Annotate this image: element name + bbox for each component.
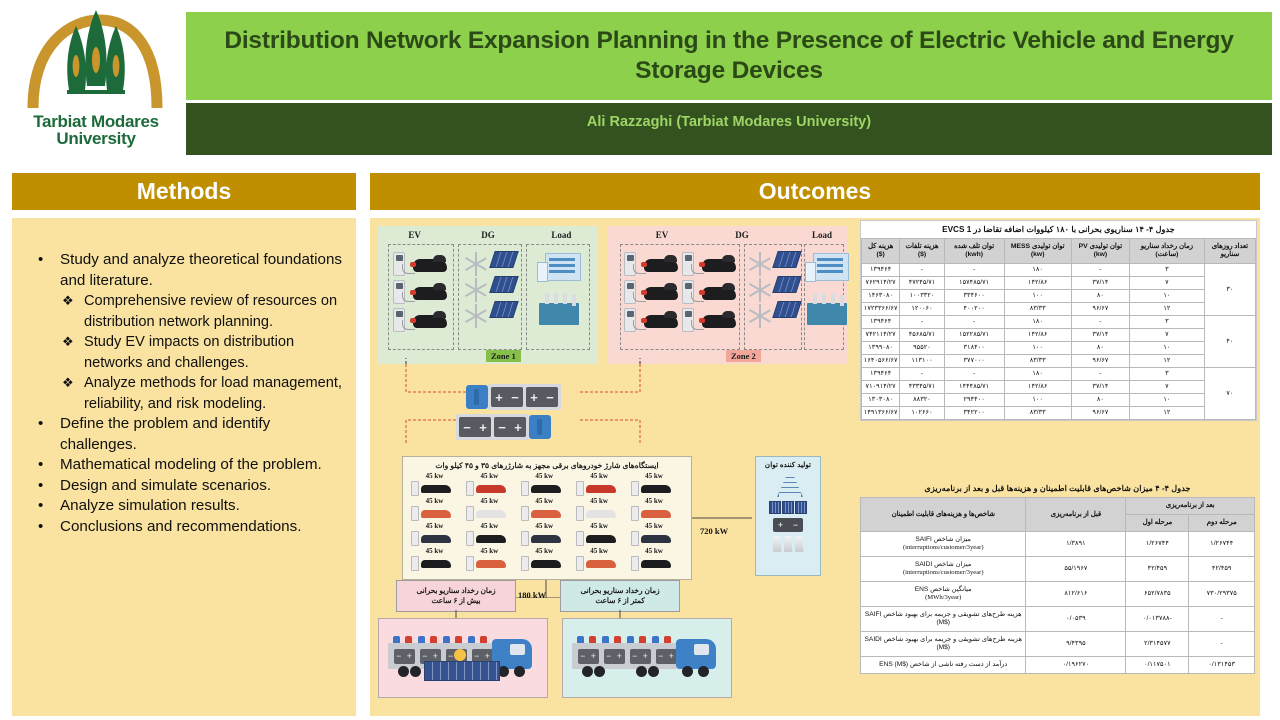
table-cell: ۳۴۲۲۰۰ [944,407,1004,420]
table-cell: - [1071,368,1129,381]
table-cell: ۵۵/۱۹۶۷ [1026,557,1126,582]
table-cell: ۱۷۲۳۳۶۶/۶۷ [862,303,900,316]
section-header-outcomes: Outcomes [370,173,1260,210]
table-row: ۷۰۳-۱۸۰--۱۳۹۴۶۴ [862,368,1256,381]
ev-charger-icon [680,250,738,278]
table-cell: - [944,316,1004,329]
callout-right-line2: کمتر از ۶ ساعت [595,596,644,606]
method-item: •Study and analyze theoretical foundatio… [28,250,344,291]
table-cell: ۰/۰۵۳۹ [1026,607,1126,632]
table-cell: ۶۵۲/۷۸۳۵ [1126,582,1189,607]
metric-label-cell: هزینه طرح‌های تشویقی و جریمه برای بهبود … [861,632,1026,657]
table-row: ۱۲۹۶/۶۷۸۳/۳۳۳۴۲۲۰۰۱۰۲۶۶۰۱۴۹۱۳۶۶/۶۷ [862,407,1256,420]
table-cell: ۹۶/۶۷ [1071,303,1129,316]
table-cell: - [944,368,1004,381]
table-row: ۱/۲۶۷۴۴۱/۲۶۷۴۴۱/۳۸۹۱میزان شاخص SAIFI(int… [861,532,1255,557]
callout-left-line1: زمان رخداد سناریو بحرانی [417,586,496,596]
table-cell: ۱/۳۸۹۱ [1026,532,1126,557]
table-cell: ۱۰۰ [1004,290,1071,303]
ev-charger-icon [391,250,449,278]
zone-2-dg-group [744,244,802,350]
metric-label-cell: هزینه طرح‌های تشویقی و جریمه برای بهبود … [861,607,1026,632]
wind-turbine-icon [747,303,773,329]
table-cell: ۰/۱۱۷۵۰۱ [1126,657,1189,674]
table-cell: ۷ [1129,277,1204,290]
truck-cab-icon [529,415,551,439]
table-cell: ۱۳۹۴۶۴ [862,316,900,329]
table-row: --۰/۰۱۳۷۸۸۰/۰۵۳۹هزینه طرح‌های تشویقی و ج… [861,607,1255,632]
method-item: •Conclusions and recommendations. [28,517,344,538]
method-item: •Design and simulate scenarios. [28,476,344,497]
method-item: •Analyze simulation results. [28,496,344,517]
logo-line-2: University [33,130,159,147]
ev-charger-icon [680,278,738,306]
poster-author-bar: Ali Razzaghi (Tarbiat Modares University… [186,103,1272,155]
poster-title-bar: Distribution Network Expansion Planning … [186,12,1272,100]
results-tables: جدول ۴- ۱۴ سناریوی بحرانی با ۱۸۰ کیلووات… [855,218,1260,716]
table-cell: ۱۴۲/۸۶ [1004,329,1071,342]
method-item: •Define the problem and identify challen… [28,414,344,455]
mess-truck-top: +− +− [466,384,561,410]
table-cell: ۴۰۰۲۰۰ [944,303,1004,316]
table-cell: ۱۴۶۳۰۸۰ [862,290,900,303]
method-item: ❖Analyze methods for load management, re… [62,373,344,414]
header-index-column: شاخص‌ها و هزینه‌های قابلیت اطمینان [861,498,1026,532]
table-cell: ۷ [1129,381,1204,394]
method-item-text: Mathematical modeling of the problem. [60,455,344,476]
system-diagram: EV DG Load [370,218,855,716]
building-load-icon [813,253,849,281]
table-cell: ۱۰۰ [1004,394,1071,407]
table-cell: ۹۶/۶۷ [1071,355,1129,368]
building-load-icon [545,253,581,281]
method-item-text: Study EV impacts on distribution network… [84,332,344,373]
wind-turbine-icon [747,251,773,277]
bullet-icon: • [28,496,60,517]
battery-pack-icon: +− +− [488,384,561,410]
table-cell: ۸۱۲/۶۱۶ [1026,582,1126,607]
table-cell: ۸۸۳۲۰ [900,394,944,407]
table-row: ۴۰۳-۱۸۰--۱۳۹۴۶۴ [862,316,1256,329]
table-cell: ۳ [1129,316,1204,329]
mess-truck-image: −+−+ −+−+ [562,618,732,698]
ev-charger-icon [622,250,680,278]
sun-icon [454,649,466,661]
method-item-text: Comprehensive review of resources on dis… [84,291,344,332]
header-before-planning: قبل از برنامه‌ریزی [1026,498,1126,532]
zone-2-col-dg: DG [702,230,782,240]
table-2-caption: جدول ۴- ۴ میزان شاخص‌های قابلیت اطمینان … [860,480,1255,497]
table-row: ۱۰۸۰۱۰۰۳۱۸۴۰۰۹۵۵۲۰۱۳۹۹۰۸۰ [862,342,1256,355]
table-cell: ۸۳/۳۳ [1004,303,1071,316]
zone-1-col-dg: DG [451,230,524,240]
method-item-text: Analyze simulation results. [60,496,344,517]
zone-1-dg-group [458,244,522,350]
table-cell: ۰/۱۹۶۲۷۰ [1026,657,1126,674]
table-cell: ۱۰۰ [1004,342,1071,355]
factory-load-icon [807,303,847,325]
bullet-icon: • [28,476,60,497]
table-cell: ۳۳۴۶۰۰ [944,290,1004,303]
table-cell: ۰/۱۳۱۴۵۳ [1189,657,1255,674]
bullet-icon: ❖ [62,332,84,373]
table-cell: - [900,316,944,329]
table-cell: ۷۶۲۹۱۴/۲۷ [862,277,900,290]
zone-2-col-load: Load [782,230,862,240]
table-cell: ۱۲ [1129,355,1204,368]
zone-1-block: EV DG Load [378,226,598,364]
table-row: ۷۳۰/۲۹۳۷۵۶۵۲/۷۸۳۵۸۱۲/۶۱۶میانگین شاخص ENS… [861,582,1255,607]
wind-turbine-icon [463,277,489,303]
table-cell: ۳ [1129,264,1204,277]
table-1-col-header: تعداد روزهای سناریو [1204,239,1255,264]
page-title: Distribution Network Expansion Planning … [186,26,1272,86]
method-item: ❖Comprehensive review of resources on di… [62,291,344,332]
bullet-icon: • [28,455,60,476]
metric-label-cell: میانگین شاخص ENS(MWh/3year) [861,582,1026,607]
table-cell: - [1071,264,1129,277]
table-cell: ۸۰ [1071,290,1129,303]
table-cell: ۱۵۲۲۸۵/۷۱ [944,329,1004,342]
table-cell: ۹۶/۶۷ [1071,407,1129,420]
table-cell: ۳۱۸۴۰۰ [944,342,1004,355]
table-cell: ۱۳۹۴۶۴ [862,264,900,277]
header-after-planning: بعد از برنامه‌ریزی [1126,498,1255,515]
table-cell: ۱۰ [1129,342,1204,355]
zone-2-load-group [804,244,844,350]
solar-panel-icon [424,661,500,681]
callout-scenario-under-6h: زمان رخداد سناریو بحرانی کمتر از ۶ ساعت [560,580,680,612]
author-affiliation: Ali Razzaghi (Tarbiat Modares University… [587,114,871,130]
table-cell: ۱/۲۶۷۴۴ [1189,532,1255,557]
ev-charger-icon [391,306,449,334]
zone-1-col-ev: EV [378,230,451,240]
table-cell: ۱۲ [1129,407,1204,420]
table-cell: ۱۰ [1129,394,1204,407]
table-cell: - [1189,632,1255,657]
ev-charger-icon [622,278,680,306]
table-cell: ۱۰۲۶۶۰ [900,407,944,420]
bullet-icon: ❖ [62,291,84,332]
wind-turbine-icon [747,277,773,303]
table-cell: - [900,264,944,277]
table-2-block: جدول ۴- ۴ میزان شاخص‌های قابلیت اطمینان … [860,480,1255,674]
zone-1-ev-group [388,244,454,350]
table-cell: ۱۳۹۹۰۸۰ [862,342,900,355]
callout-right-line1: زمان رخداد سناریو بحرانی [581,586,660,596]
mess-truck-bottom: −+ −+ [456,414,551,440]
table-1-caption: جدول ۴- ۱۴ سناریوی بحرانی با ۱۸۰ کیلووات… [861,221,1256,238]
wind-turbine-icon [463,251,489,277]
table-cell: ۸۰ [1071,394,1129,407]
table-cell: ۳ [1129,368,1204,381]
table-1-block: جدول ۴- ۱۴ سناریوی بحرانی با ۱۸۰ کیلووات… [860,220,1257,421]
table-cell: ۷۴۲۱۱۴/۲۷ [862,329,900,342]
table-row: ۱۰۸۰۱۰۰۳۳۴۶۰۰۱۰۰۳۳۲۰۱۴۶۳۰۸۰ [862,290,1256,303]
table-cell: ۴۲/۴۵۹ [1126,557,1189,582]
table-row: ۷۳۷/۱۴۱۴۲/۸۶۱۴۴۴۸۵/۷۱۴۳۳۴۵/۷۱۷۱۰۹۱۴/۲۷ [862,381,1256,394]
ev-charger-icon [680,306,738,334]
table-cell: -۰/۰۱۳۷۸۸ [1126,607,1189,632]
table-row: ۷۳۷/۱۴۱۴۲/۸۶۱۵۲۲۸۵/۷۱۴۵۶۸۵/۷۱۷۴۲۱۱۴/۲۷ [862,329,1256,342]
factory-load-icon [539,303,579,325]
table-row: ۴۲/۴۵۹۴۲/۴۵۹۵۵/۱۹۶۷میزان شاخص SAIDI(inte… [861,557,1255,582]
bullet-icon: • [28,414,60,455]
truck-cab-icon [466,385,488,409]
table-1-col-header: هزینه تلفات ($) [900,239,944,264]
terminal-caps [574,636,674,643]
truck-cab-icon [676,639,716,669]
method-item-text: Conclusions and recommendations. [60,517,344,538]
table-cell: ۴۵۶۸۵/۷۱ [900,329,944,342]
methods-list: •Study and analyze theoretical foundatio… [12,218,356,537]
callout-left-line2: بیش از ۶ ساعت [432,596,481,606]
solar-panel-icon [772,251,802,268]
table-cell: ۸۰ [1071,342,1129,355]
table-cell: ۱۳۰۳۰۸۰ [862,394,900,407]
table-1-header-row: تعداد روزهای سناریوزمان رخداد سناریو (سا… [862,239,1256,264]
table-cell: ۳۷/۱۴ [1071,277,1129,290]
table-1-col-header: هزینه کل ($) [862,239,900,264]
method-item: •Mathematical modeling of the problem. [28,455,344,476]
method-item-text: Study and analyze theoretical foundation… [60,250,344,291]
solar-panel-icon [489,251,519,268]
table-1-col-header: توان تولیدی PV (kw) [1071,239,1129,264]
table-cell: ۱۱۳۱۰۰ [900,355,944,368]
table-cell: ۳۷/۱۴ [1071,329,1129,342]
table-cell: ۱۰ [1129,290,1204,303]
bullet-icon: • [28,517,60,538]
table-cell: ۱۲۰۰۶۰ [900,303,944,316]
scenario-days-cell: ۴۰ [1204,316,1255,368]
outcomes-panel: EV DG Load [370,218,1260,716]
table-cell: - [1071,316,1129,329]
table-cell: ۱۰۰۳۳۲۰ [900,290,944,303]
zone-2-block: EV DG Load [608,226,848,364]
callout-scenario-over-6h: زمان رخداد سناریو بحرانی بیش از ۶ ساعت [396,580,516,612]
table-cell: ۱۸۰ [1004,368,1071,381]
table-cell: ۲۹۴۴۰۰ [944,394,1004,407]
table-cell: ۴۳۳۴۵/۷۱ [900,381,944,394]
table-cell: ۳۷/۱۴ [1071,381,1129,394]
table-row: ۱۲۹۶/۶۷۸۳/۳۳۴۰۰۲۰۰۱۲۰۰۶۰۱۷۲۳۳۶۶/۶۷ [862,303,1256,316]
table-cell: ۱۴۲/۸۶ [1004,277,1071,290]
table-cell: ۱۸۰ [1004,316,1071,329]
section-header-methods: Methods [12,173,356,210]
table-row: ۷۳۷/۱۴۱۴۲/۸۶۱۵۷۴۸۵/۷۱۴۷۲۴۵/۷۱۷۶۲۹۱۴/۲۷ [862,277,1256,290]
wind-turbines-column [747,251,773,329]
table-cell: ۲/۳۱۴۵۷۷ [1126,632,1189,657]
table-cell: ۷۳۰/۲۹۳۷۵ [1189,582,1255,607]
solar-panels-column [492,251,516,329]
table-cell: ۱۴۹۱۳۶۶/۶۷ [862,407,900,420]
section-header-outcomes-label: Outcomes [759,178,871,205]
table-1-col-header: توان تلف شده (kwh) [944,239,1004,264]
table-cell: - [900,368,944,381]
method-item-text: Define the problem and identify challeng… [60,414,344,455]
table-2: بعد از برنامه‌ریزیقبل از برنامه‌ریزیشاخص… [860,497,1255,674]
poster-header: Tarbiat Modares University Distribution … [0,0,1280,160]
terminal-caps [390,636,490,643]
wind-turbine-icon [463,303,489,329]
table-row: ۱۰۸۰۱۰۰۲۹۴۴۰۰۸۸۳۲۰۱۳۰۳۰۸۰ [862,394,1256,407]
table-cell: ۹۵۵۲۰ [900,342,944,355]
table-cell: ۸۳/۳۳ [1004,355,1071,368]
metric-label-cell: درآمد از دست رفته ناشی از شاخص ENS (M$) [861,657,1026,674]
link-label-720kw: 720 kW [700,526,728,536]
header-stage-2: مرحله دوم [1189,515,1255,532]
section-header-methods-label: Methods [137,178,232,205]
zone-2-col-ev: EV [622,230,702,240]
method-item-text: Analyze methods for load management, rel… [84,373,344,414]
table-cell: ۱۶۴۰۵۶۶/۶۷ [862,355,900,368]
header-stage-1: مرحله اول [1126,515,1189,532]
table-cell: ۷۱۰۹۱۴/۲۷ [862,381,900,394]
table-1-col-header: توان تولیدی MESS (kw) [1004,239,1071,264]
zone-1-load-group [526,244,590,350]
university-logo: Tarbiat Modares University [10,4,182,159]
table-cell: ۷ [1129,329,1204,342]
table-cell: - [944,264,1004,277]
table-cell: ۱۴۲/۸۶ [1004,381,1071,394]
table-cell: ۱۴۴۴۸۵/۷۱ [944,381,1004,394]
mess-truck-solar-panel-image: −+−+ −+−+ [378,618,548,698]
metric-label-cell: میزان شاخص SAIDI(interruptions/customer/… [861,557,1026,582]
scenario-days-cell: ۳۰ [1204,264,1255,316]
battery-pack-icon: −+ −+ [456,414,529,440]
table-cell: ۹/۴۳۹۵ [1026,632,1126,657]
solar-panel-icon [772,301,802,318]
ev-charger-icon [391,278,449,306]
table-cell: ۴۲/۴۵۹ [1189,557,1255,582]
metric-label-cell: میزان شاخص SAIFI(interruptions/customer/… [861,532,1026,557]
zone-2-column-labels: EV DG Load [608,230,862,240]
table-row: ۳۰۳-۱۸۰--۱۳۹۴۶۴ [862,264,1256,277]
zone-1-column-labels: EV DG Load [378,230,598,240]
link-label-180kw: 180 kW [518,590,546,600]
table-cell: ۴۷۲۴۵/۷۱ [900,277,944,290]
table-1-col-header: زمان رخداد سناریو (ساعت) [1129,239,1204,264]
method-item-text: Design and simulate scenarios. [60,476,344,497]
logo-mark-icon [21,4,171,112]
zone-2-ev-group [620,244,740,350]
table-cell: - [1189,607,1255,632]
zone-1-col-load: Load [525,230,598,240]
diagram-power-links [370,448,855,598]
table-1: تعداد روزهای سناریوزمان رخداد سناریو (سا… [861,238,1256,420]
wind-turbines-column [463,251,489,329]
methods-panel: •Study and analyze theoretical foundatio… [12,218,356,716]
logo-wordmark: Tarbiat Modares University [33,113,159,147]
solar-panel-icon [489,276,519,293]
table-cell: ۱۳۹۴۶۴ [862,368,900,381]
table-2-header-row-1: بعد از برنامه‌ریزیقبل از برنامه‌ریزیشاخص… [861,498,1255,515]
table-cell: ۱۸۰ [1004,264,1071,277]
table-row: -۲/۳۱۴۵۷۷۹/۴۳۹۵هزینه طرح‌های تشویقی و جر… [861,632,1255,657]
table-cell: ۱/۲۶۷۴۴ [1126,532,1189,557]
table-row: ۱۲۹۶/۶۷۸۳/۳۳۳۷۷۰۰۰۱۱۳۱۰۰۱۶۴۰۵۶۶/۶۷ [862,355,1256,368]
solar-panel-icon [772,276,802,293]
bullet-icon: • [28,250,60,291]
bullet-icon: ❖ [62,373,84,414]
scenario-days-cell: ۷۰ [1204,368,1255,420]
table-cell: ۱۵۷۴۸۵/۷۱ [944,277,1004,290]
table-row: ۰/۱۳۱۴۵۳۰/۱۱۷۵۰۱۰/۱۹۶۲۷۰درآمد از دست رفت… [861,657,1255,674]
method-item: ❖Study EV impacts on distribution networ… [62,332,344,373]
ev-charger-icon [622,306,680,334]
table-cell: ۱۲ [1129,303,1204,316]
table-cell: ۸۳/۳۳ [1004,407,1071,420]
solar-panels-column [775,251,799,329]
solar-panel-icon [489,301,519,318]
table-cell: ۳۷۷۰۰۰ [944,355,1004,368]
